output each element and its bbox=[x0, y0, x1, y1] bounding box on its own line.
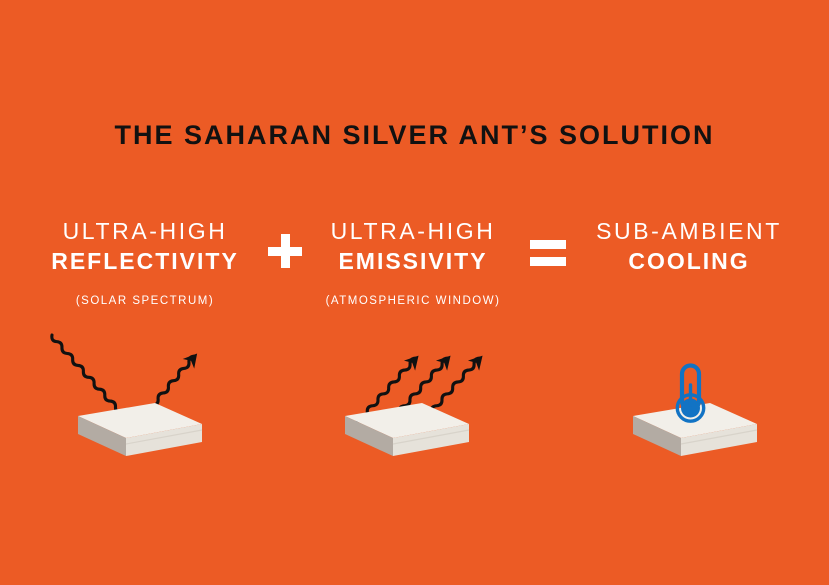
column-cooling-line1: SUB-AMBIENT bbox=[560, 216, 818, 246]
column-reflectivity: ULTRA-HIGH REFLECTIVITY (SOLAR SPECTRUM) bbox=[20, 216, 270, 309]
infographic-canvas: THE SAHARAN SILVER ANT’S SOLUTION ULTRA-… bbox=[0, 0, 829, 585]
page-title: THE SAHARAN SILVER ANT’S SOLUTION bbox=[0, 118, 829, 152]
illustration-emissivity bbox=[325, 320, 550, 470]
column-emissivity-subtitle: (ATMOSPHERIC WINDOW) bbox=[288, 293, 538, 309]
illustration-reflectivity bbox=[30, 320, 260, 470]
slab-reflectivity bbox=[78, 403, 202, 456]
column-emissivity: ULTRA-HIGH EMISSIVITY (ATMOSPHERIC WINDO… bbox=[288, 216, 538, 309]
slab-emissivity bbox=[345, 403, 469, 456]
column-emissivity-line1: ULTRA-HIGH bbox=[288, 216, 538, 246]
illustration-cooling bbox=[610, 350, 800, 470]
column-reflectivity-line1: ULTRA-HIGH bbox=[20, 216, 270, 246]
column-emissivity-line2: EMISSIVITY bbox=[288, 246, 538, 277]
column-cooling: SUB-AMBIENT COOLING bbox=[560, 216, 818, 277]
column-reflectivity-subtitle: (SOLAR SPECTRUM) bbox=[20, 293, 270, 309]
column-reflectivity-line2: REFLECTIVITY bbox=[20, 246, 270, 277]
incoming-wave-icon bbox=[50, 334, 123, 414]
column-cooling-line2: COOLING bbox=[560, 246, 818, 277]
